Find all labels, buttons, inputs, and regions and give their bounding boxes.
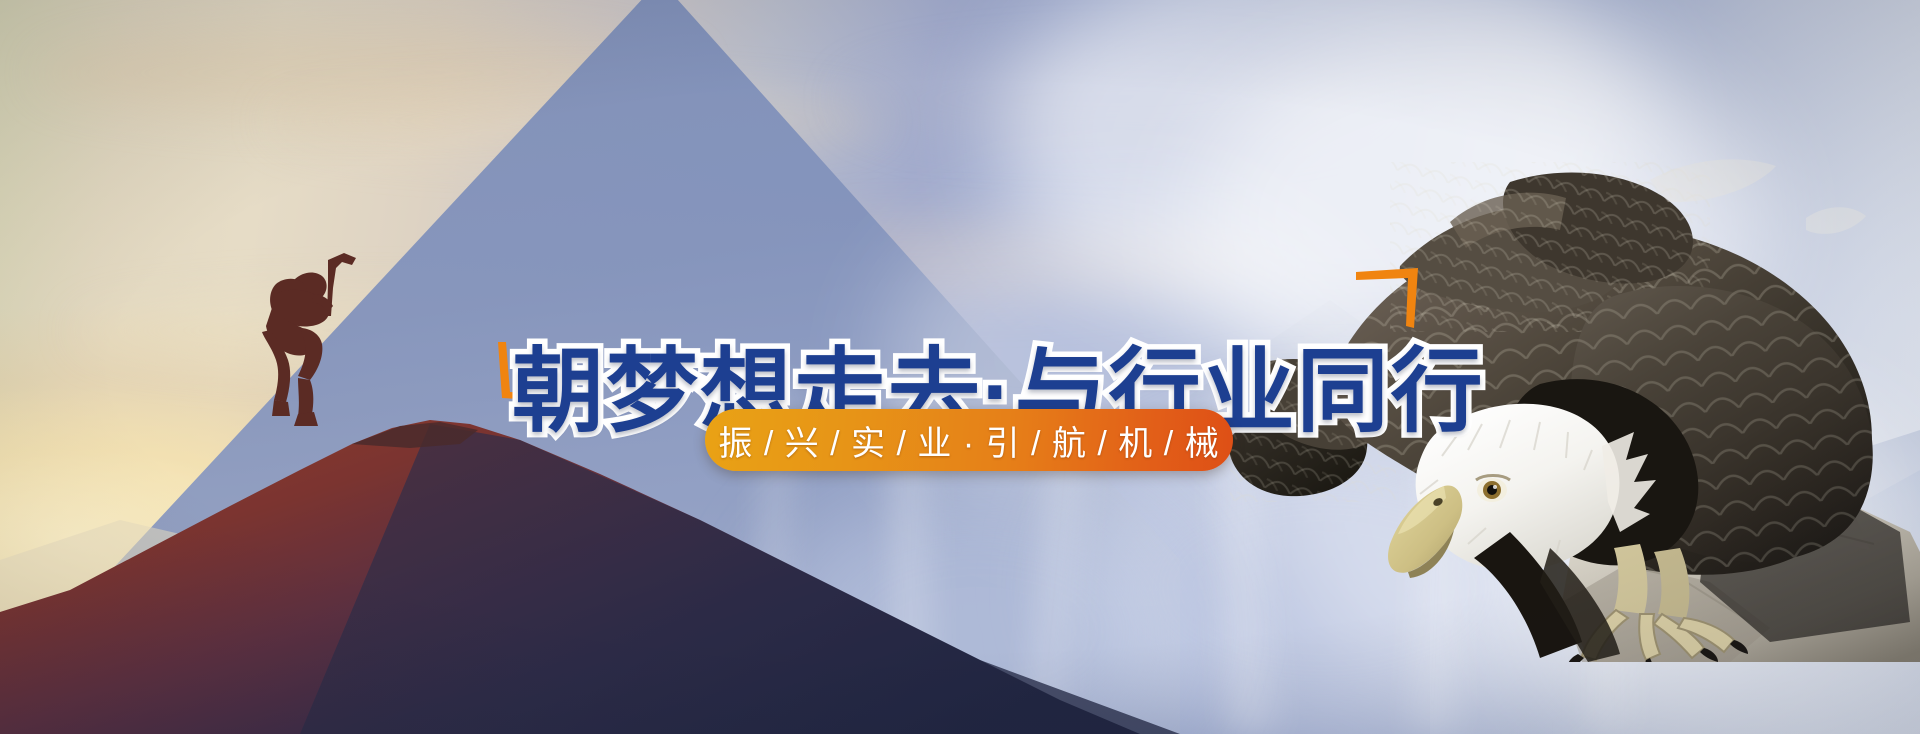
banner-subtitle-badge: 振 / 兴 / 实 / 业 · 引 / 航 / 机 / 械	[705, 409, 1233, 471]
banner-text-layer: 朝梦想走去·与行业同行 振 / 兴 / 实 / 业 · 引 / 航 / 机 / …	[0, 0, 1920, 734]
accent-corner-top-right-icon	[1356, 268, 1422, 330]
banner-subtitle-text: 振 / 兴 / 实 / 业 · 引 / 航 / 机 / 械	[718, 416, 1219, 465]
hero-banner: 朝梦想走去·与行业同行 振 / 兴 / 实 / 业 · 引 / 航 / 机 / …	[0, 0, 1920, 734]
